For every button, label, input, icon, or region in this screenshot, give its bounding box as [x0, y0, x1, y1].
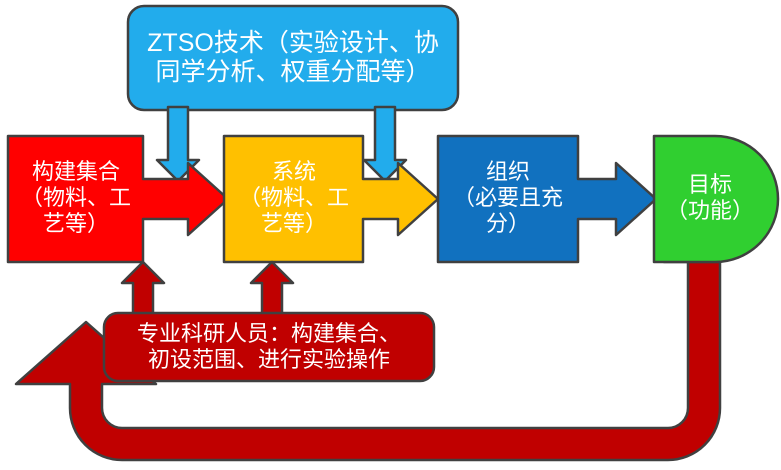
- goal-node[interactable]: [654, 136, 778, 262]
- researcher-node[interactable]: [104, 313, 434, 381]
- researcher-to-system-arrow-up-icon: [251, 262, 293, 320]
- organize-node[interactable]: [438, 136, 656, 262]
- system-node[interactable]: [224, 136, 438, 262]
- diagram-canvas: [0, 0, 781, 470]
- collection-node[interactable]: [8, 136, 228, 262]
- researcher-to-collection-arrow-up-icon: [122, 262, 164, 320]
- ztso-node[interactable]: [128, 6, 458, 110]
